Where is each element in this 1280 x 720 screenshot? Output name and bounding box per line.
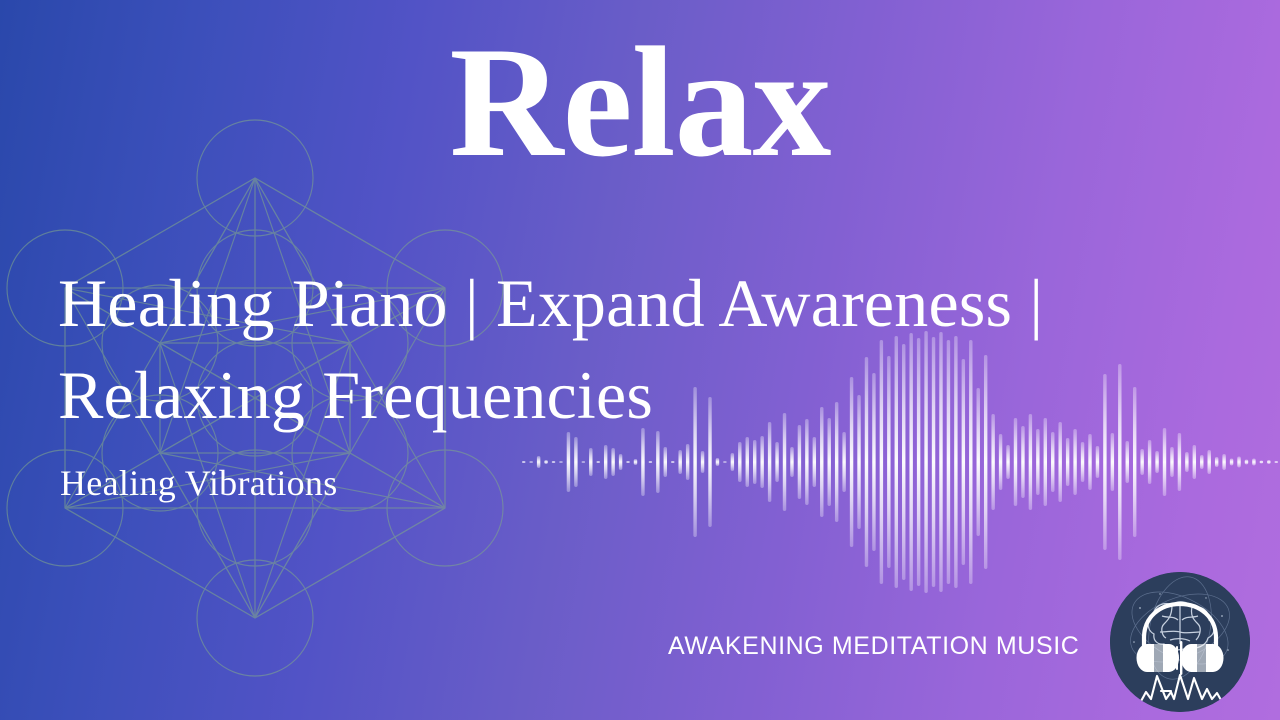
waveform-bar [1245, 460, 1248, 465]
waveform-bar [1267, 460, 1270, 464]
waveform-bar [619, 454, 622, 470]
waveform-bar [537, 456, 540, 468]
video-subtitle: Healing Piano | Expand Awareness | Relax… [58, 258, 1238, 442]
waveform-bar [529, 461, 532, 463]
brand-logo[interactable] [1110, 572, 1250, 712]
waveform-bar [1222, 454, 1225, 470]
waveform-bar [760, 436, 763, 488]
subtitle-block: Healing Piano | Expand Awareness | Relax… [58, 258, 1238, 442]
waveform-bar [678, 450, 681, 474]
waveform-bar [1155, 451, 1158, 473]
waveform-bar [775, 442, 778, 482]
waveform-bar [604, 445, 607, 479]
waveform-bar [1111, 433, 1114, 491]
waveform-bar [686, 444, 689, 480]
waveform-bar [574, 437, 577, 487]
waveform-bar [813, 437, 816, 487]
waveform-bar [746, 437, 749, 487]
waveform-bar [716, 458, 719, 466]
waveform-bar [1081, 442, 1084, 482]
waveform-bar [1230, 459, 1233, 466]
waveform-bar [1066, 438, 1069, 486]
waveform-bar [589, 448, 592, 476]
title-block: Relax [0, 0, 1280, 182]
waveform-bar [999, 434, 1002, 490]
waveform-bar [731, 453, 734, 471]
waveform-bar [1126, 441, 1129, 483]
waveform-bar [701, 451, 704, 473]
waveform-bar [1170, 447, 1173, 477]
waveform-bar [1260, 461, 1263, 464]
waveform-bar [559, 461, 562, 463]
waveform-bar [626, 461, 629, 463]
waveform-bar [1006, 445, 1009, 479]
waveform-bar [552, 461, 555, 463]
waveform-bar [790, 447, 793, 477]
waveform-bar [1140, 449, 1143, 475]
waveform-bar [1185, 452, 1188, 472]
waveform-bar [671, 461, 674, 463]
waveform-bar [1215, 457, 1218, 467]
waveform-bar [1096, 446, 1099, 478]
waveform-bar [1208, 450, 1211, 474]
waveform-bar [753, 440, 756, 484]
waveform-bar [1193, 445, 1196, 479]
waveform-bar [544, 460, 547, 464]
waveform-bar [1237, 457, 1240, 468]
video-tagline: Healing Vibrations [60, 462, 338, 505]
youtube-thumbnail: Relax Healing Piano | Expand Awareness |… [0, 0, 1280, 720]
channel-name: AWAKENING MEDITATION MUSIC [668, 632, 1079, 661]
waveform-bar [522, 461, 525, 463]
waveform-bar [582, 461, 585, 463]
waveform-bar [664, 447, 667, 477]
waveform-bar [1088, 434, 1091, 490]
waveform-bar [634, 459, 637, 465]
waveform-bar [1200, 455, 1203, 469]
waveform-bar [738, 442, 741, 482]
waveform-bar [1178, 433, 1181, 491]
waveform-bar [649, 461, 652, 463]
waveform-bar [597, 461, 600, 463]
waveform-bar [723, 461, 726, 463]
page-title: Relax [0, 0, 1280, 182]
waveform-bar [1148, 440, 1151, 484]
waveform-bar [1252, 459, 1255, 466]
waveform-bar [1275, 461, 1278, 463]
waveform-bar [611, 448, 614, 476]
